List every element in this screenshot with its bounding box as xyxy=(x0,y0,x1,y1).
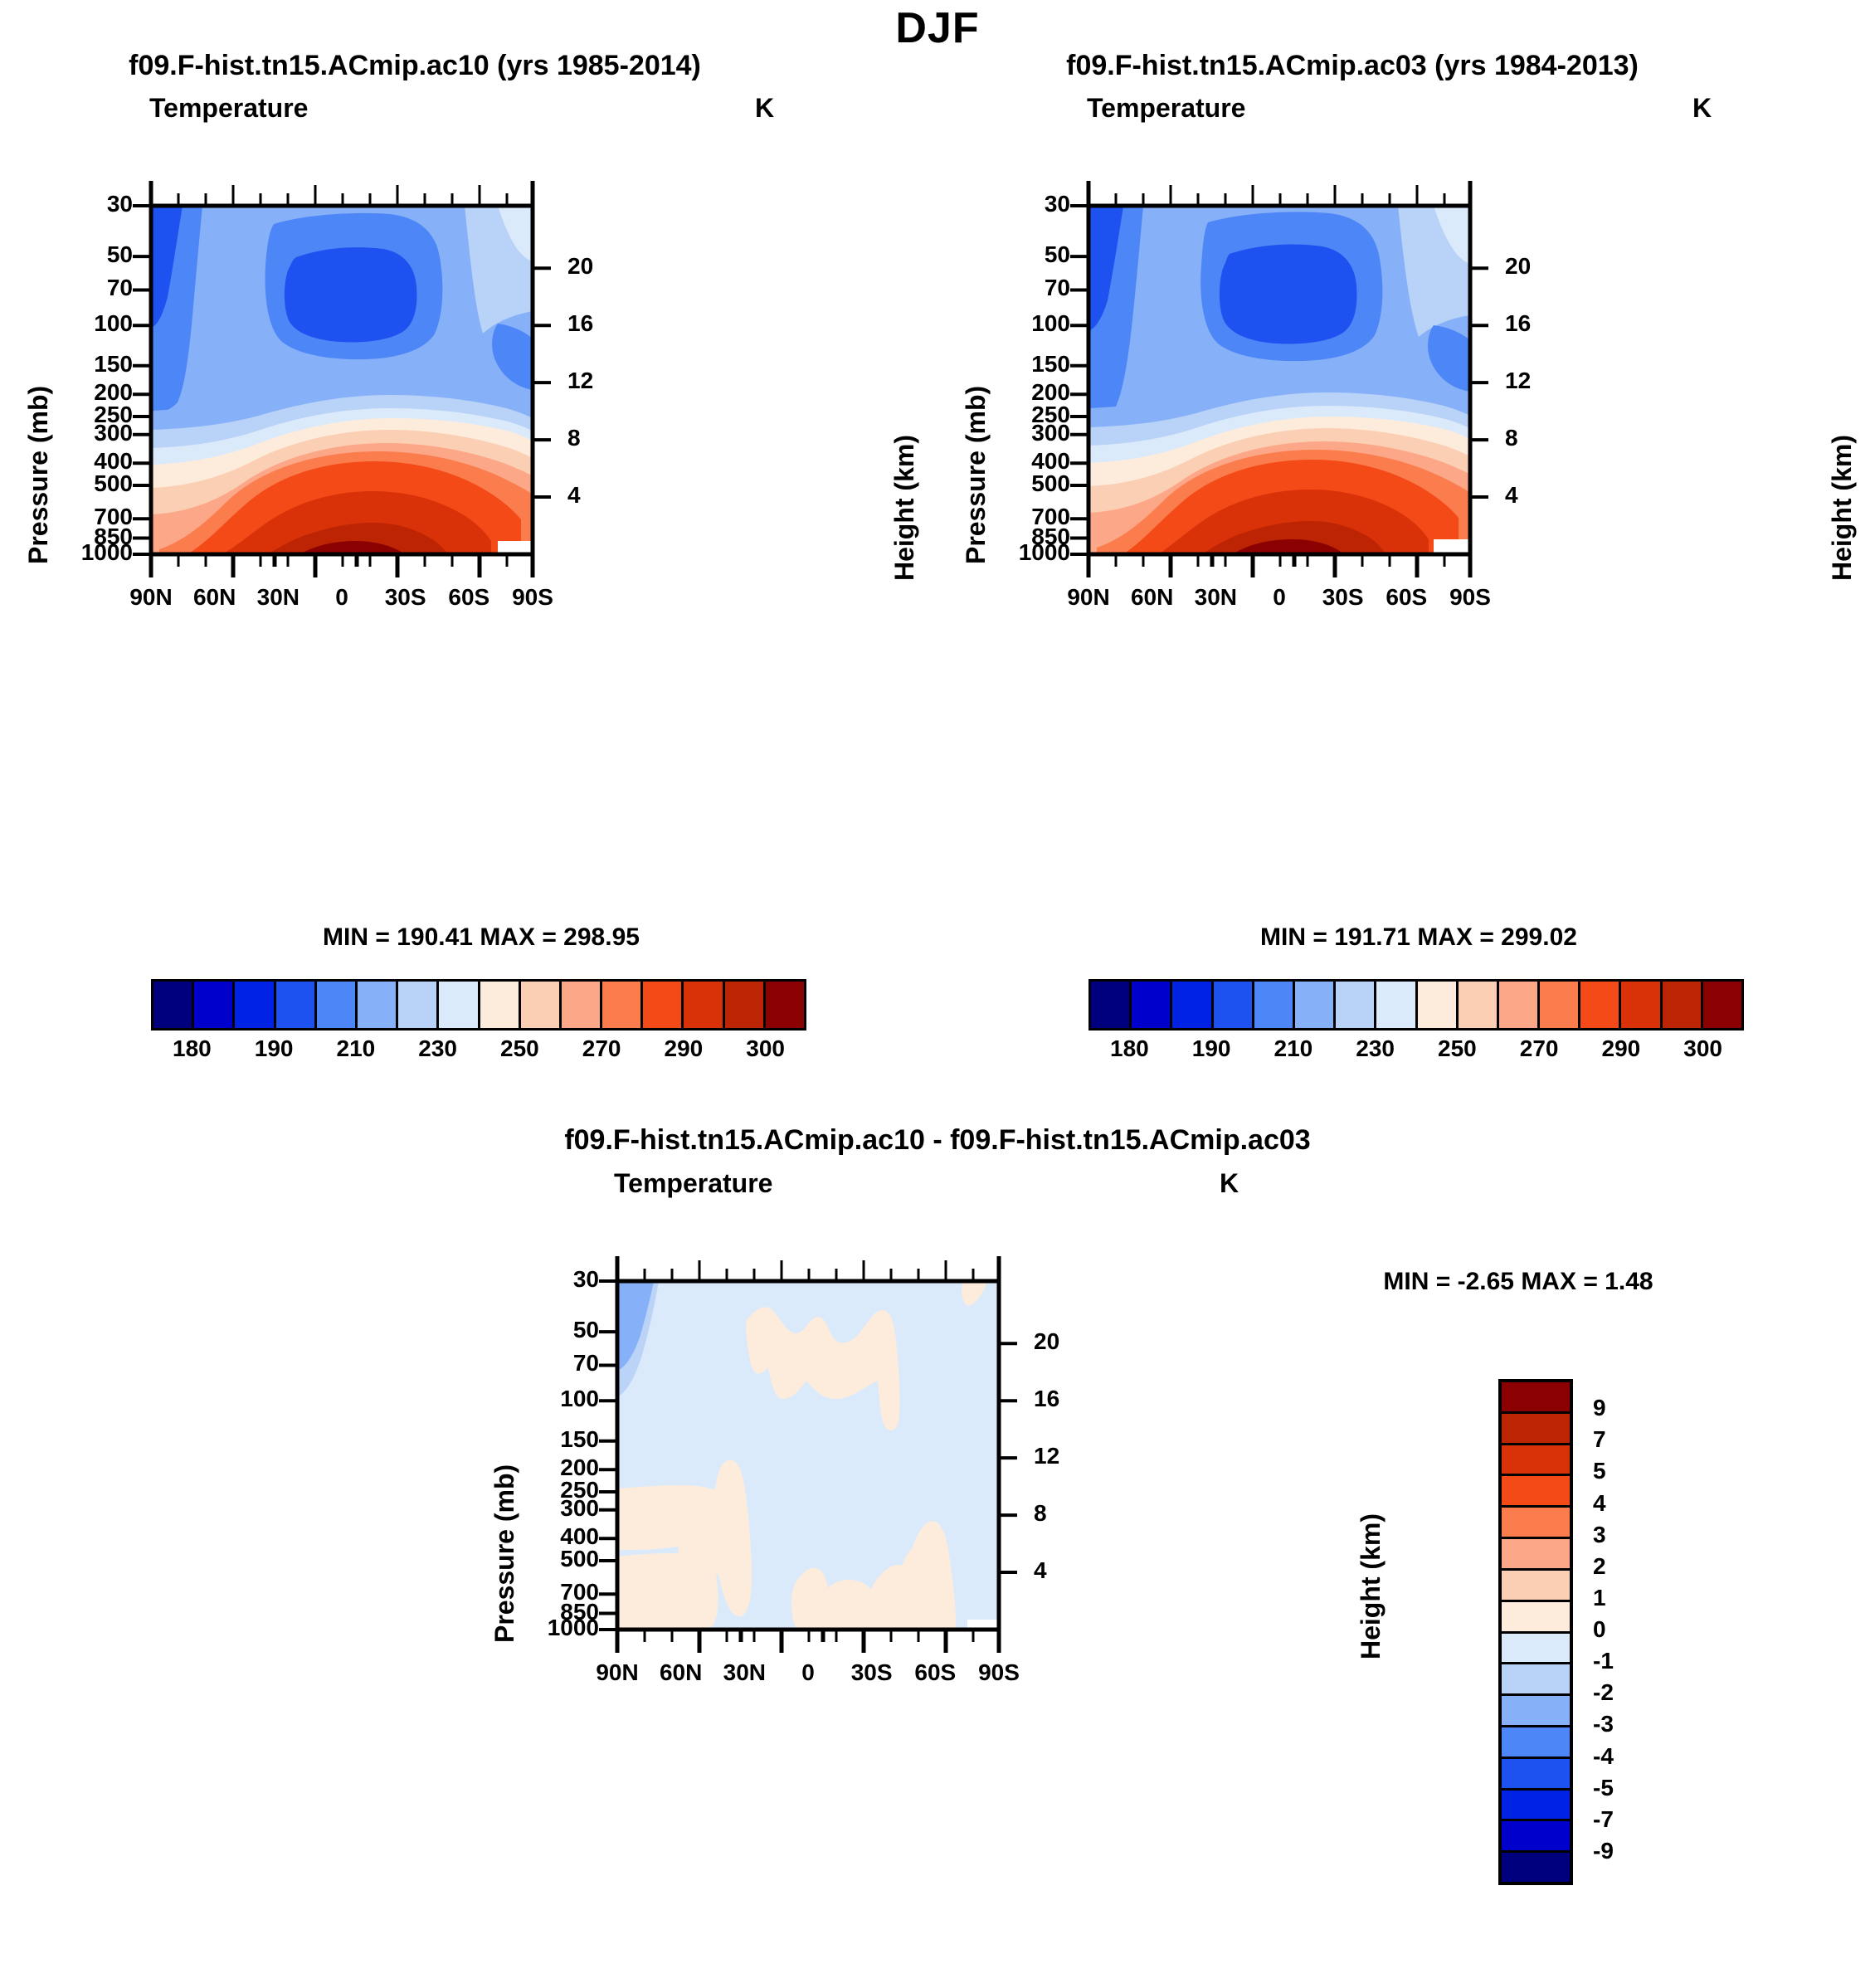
y-tick-label: 300 xyxy=(516,1495,599,1522)
colorbar-cell[interactable] xyxy=(1502,1537,1570,1568)
colorbar-cell[interactable] xyxy=(1091,982,1129,1028)
colorbar-tick-label: 5 xyxy=(1593,1458,1651,1484)
colorbar-cell[interactable] xyxy=(1502,1631,1570,1663)
y-tick-label: 1000 xyxy=(50,539,133,566)
colorbar-cell[interactable] xyxy=(1502,1662,1570,1693)
plot-right xyxy=(937,116,1875,913)
colorbar-tick-label: 270 xyxy=(564,1035,639,1062)
y-tick-label: 50 xyxy=(516,1317,599,1343)
colorbar-cell[interactable] xyxy=(1537,982,1578,1028)
colorbar-cell[interactable] xyxy=(1502,1819,1570,1850)
colorbar-cell[interactable] xyxy=(640,982,681,1028)
colorbar-cell[interactable] xyxy=(153,982,192,1028)
colorbar-cell[interactable] xyxy=(1456,982,1497,1028)
colorbar-cell[interactable] xyxy=(1502,1474,1570,1505)
colorbar-cell[interactable] xyxy=(1374,982,1415,1028)
y2-tick-label: 16 xyxy=(1505,310,1555,337)
colorbar-tick-label: -2 xyxy=(1593,1679,1651,1706)
colorbar-cell[interactable] xyxy=(355,982,396,1028)
page-title: DJF xyxy=(0,3,1875,53)
colorbar-tick-label: 230 xyxy=(401,1035,475,1062)
colorbar-temperature-right-labels: 180190210230250270290300 xyxy=(1088,1035,1744,1069)
colorbar-temperature-left-labels: 180190210230250270290300 xyxy=(151,1035,806,1069)
colorbar-difference-labels: 97543210-1-2-3-4-5-7-9 xyxy=(1581,1379,1648,1885)
colorbar-cell[interactable] xyxy=(1502,1788,1570,1820)
colorbar-tick-label: -1 xyxy=(1593,1648,1651,1674)
colorbar-cell[interactable] xyxy=(1502,1725,1570,1757)
colorbar-cell[interactable] xyxy=(1502,1382,1570,1411)
y2-tick-label: 20 xyxy=(567,253,617,280)
colorbar-tick-label: 2 xyxy=(1593,1553,1651,1580)
colorbar-cell[interactable] xyxy=(1660,982,1701,1028)
colorbar-tick-label: 1 xyxy=(1593,1585,1651,1611)
y2-tick-label: 16 xyxy=(567,310,617,337)
y-tick-label: 1000 xyxy=(516,1615,599,1641)
colorbar-cell[interactable] xyxy=(1502,1568,1570,1600)
colorbar-cell[interactable] xyxy=(436,982,477,1028)
colorbar-cell[interactable] xyxy=(1211,982,1252,1028)
colorbar-cell[interactable] xyxy=(478,982,519,1028)
plot-left xyxy=(0,116,937,913)
y2-tick-label: 8 xyxy=(1034,1500,1084,1527)
y-tick-label: 30 xyxy=(50,191,133,217)
colorbar-tick-label: 290 xyxy=(646,1035,721,1062)
colorbar-cell[interactable] xyxy=(192,982,232,1028)
y-tick-label: 70 xyxy=(516,1350,599,1376)
y-tick-label: 30 xyxy=(516,1266,599,1293)
colorbar-cell[interactable] xyxy=(1252,982,1293,1028)
minmax-label-right: MIN = 191.71 MAX = 299.02 xyxy=(1037,923,1800,952)
y2-tick-label: 4 xyxy=(1034,1557,1084,1584)
y-tick-label: 1000 xyxy=(987,539,1070,566)
colorbar-cell[interactable] xyxy=(1619,982,1659,1028)
y2-tick-label: 20 xyxy=(1034,1328,1084,1355)
colorbar-tick-label: 180 xyxy=(154,1035,229,1062)
colorbar-tick-label: 300 xyxy=(1666,1035,1741,1062)
y-tick-label: 500 xyxy=(50,470,133,497)
colorbar-cell[interactable] xyxy=(723,982,763,1028)
colorbar-tick-label: 7 xyxy=(1593,1426,1651,1453)
y-tick-label: 300 xyxy=(987,420,1070,446)
y2-tick-label: 8 xyxy=(1505,425,1555,451)
colorbar-cell[interactable] xyxy=(1502,1850,1570,1882)
colorbar-cell[interactable] xyxy=(1502,1443,1570,1474)
colorbar-cell[interactable] xyxy=(1502,1757,1570,1788)
colorbar-temperature-left[interactable] xyxy=(151,979,806,1031)
colorbar-difference[interactable] xyxy=(1498,1379,1573,1885)
y-tick-label: 100 xyxy=(516,1386,599,1412)
colorbar-cell[interactable] xyxy=(1129,982,1170,1028)
colorbar-cell[interactable] xyxy=(600,982,640,1028)
x-tick-label: 90S xyxy=(953,1659,1045,1686)
colorbar-cell[interactable] xyxy=(1293,982,1333,1028)
y2-tick-label: 12 xyxy=(567,368,617,394)
x-tick-label: 90S xyxy=(487,584,578,611)
colorbar-cell[interactable] xyxy=(763,982,804,1028)
y2-tick-label: 20 xyxy=(1505,253,1555,280)
colorbar-tick-label: 250 xyxy=(1420,1035,1494,1062)
y-tick-label: 150 xyxy=(516,1426,599,1453)
y-tick-label: 50 xyxy=(50,241,133,268)
colorbar-tick-label: 180 xyxy=(1092,1035,1166,1062)
colorbar-tick-label: -4 xyxy=(1593,1743,1651,1770)
y-tick-label: 300 xyxy=(50,420,133,446)
colorbar-cell[interactable] xyxy=(314,982,355,1028)
colorbar-tick-label: 210 xyxy=(319,1035,393,1062)
colorbar-cell[interactable] xyxy=(1415,982,1456,1028)
colorbar-cell[interactable] xyxy=(1497,982,1537,1028)
colorbar-cell[interactable] xyxy=(1502,1600,1570,1631)
y2-tick-label: 16 xyxy=(1034,1386,1084,1412)
colorbar-tick-label: -3 xyxy=(1593,1711,1651,1737)
y2-tick-label: 8 xyxy=(567,425,617,451)
colorbar-tick-label: 290 xyxy=(1584,1035,1658,1062)
colorbar-tick-label: 0 xyxy=(1593,1616,1651,1643)
colorbar-cell[interactable] xyxy=(1701,982,1741,1028)
y-tick-label: 30 xyxy=(987,191,1070,217)
colorbar-tick-label: 9 xyxy=(1593,1395,1651,1421)
y-tick-label: 70 xyxy=(987,275,1070,301)
colorbar-cell[interactable] xyxy=(1170,982,1210,1028)
panel-title-right: f09.F-hist.tn15.ACmip.ac03 (yrs 1984-201… xyxy=(962,50,1742,82)
colorbar-cell[interactable] xyxy=(1502,1411,1570,1443)
colorbar-cell[interactable] xyxy=(1578,982,1619,1028)
plot-diff xyxy=(466,1191,1404,1988)
colorbar-tick-label: 230 xyxy=(1338,1035,1413,1062)
colorbar-tick-label: 250 xyxy=(482,1035,557,1062)
y-tick-label: 100 xyxy=(50,310,133,337)
colorbar-tick-label: -7 xyxy=(1593,1806,1651,1833)
colorbar-cell[interactable] xyxy=(681,982,722,1028)
y-tick-label: 500 xyxy=(987,470,1070,497)
colorbar-tick-label: 190 xyxy=(1174,1035,1249,1062)
colorbar-tick-label: 210 xyxy=(1256,1035,1331,1062)
y-tick-label: 500 xyxy=(516,1546,599,1572)
colorbar-cell[interactable] xyxy=(232,982,273,1028)
colorbar-tick-label: 3 xyxy=(1593,1522,1651,1548)
colorbar-tick-label: -9 xyxy=(1593,1838,1651,1864)
y2-tick-label: 4 xyxy=(1505,482,1555,509)
colorbar-cell[interactable] xyxy=(396,982,436,1028)
colorbar-tick-label: 4 xyxy=(1593,1490,1651,1517)
colorbar-tick-label: 190 xyxy=(236,1035,311,1062)
colorbar-cell[interactable] xyxy=(274,982,314,1028)
colorbar-tick-label: 300 xyxy=(728,1035,803,1062)
y-tick-label: 70 xyxy=(50,275,133,301)
y-tick-label: 150 xyxy=(987,351,1070,378)
minmax-label-left: MIN = 190.41 MAX = 298.95 xyxy=(100,923,863,952)
colorbar-cell[interactable] xyxy=(1502,1693,1570,1725)
y2-tick-label: 12 xyxy=(1034,1443,1084,1469)
colorbar-cell[interactable] xyxy=(1502,1505,1570,1537)
y-tick-label: 50 xyxy=(987,241,1070,268)
colorbar-cell[interactable] xyxy=(559,982,600,1028)
y2-tick-label: 12 xyxy=(1505,368,1555,394)
colorbar-cell[interactable] xyxy=(519,982,559,1028)
panel-title-left: f09.F-hist.tn15.ACmip.ac10 (yrs 1985-201… xyxy=(25,50,805,82)
colorbar-tick-label: 270 xyxy=(1502,1035,1576,1062)
y-tick-label: 100 xyxy=(987,310,1070,337)
x-tick-label: 90S xyxy=(1425,584,1516,611)
y-tick-label: 150 xyxy=(50,351,133,378)
y2-tick-label: 4 xyxy=(567,482,617,509)
colorbar-tick-label: -5 xyxy=(1593,1775,1651,1801)
colorbar-temperature-right[interactable] xyxy=(1088,979,1744,1031)
colorbar-cell[interactable] xyxy=(1333,982,1374,1028)
panel-title-diff: f09.F-hist.tn15.ACmip.ac10 - f09.F-hist.… xyxy=(315,1124,1560,1157)
